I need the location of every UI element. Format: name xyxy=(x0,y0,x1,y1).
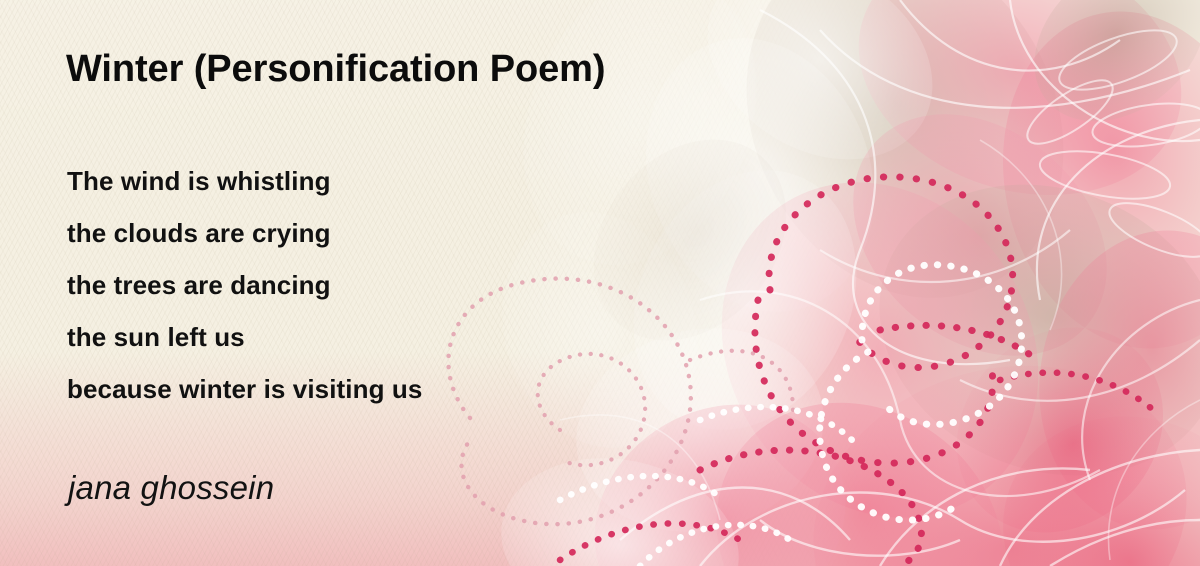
poem-line: because winter is visiting us xyxy=(67,363,422,415)
petal-outline-shapes xyxy=(1018,18,1200,268)
poem-body: The wind is whistling the clouds are cry… xyxy=(67,155,422,415)
petal-group-middle-right xyxy=(555,121,1200,566)
author-name: jana ghossein xyxy=(68,469,274,507)
poem-line: the sun left us xyxy=(67,311,422,363)
crimson-dotted-spiral xyxy=(560,177,1160,566)
petal-group-lower-right xyxy=(485,285,1200,566)
swirl-lines-lower xyxy=(620,450,1200,566)
poem-line: the clouds are crying xyxy=(67,207,422,259)
swirl-lines-upper xyxy=(760,0,1200,364)
white-dotted-spiral xyxy=(560,265,1022,566)
petal-group-upper-right xyxy=(609,0,1200,405)
swirl-lines-middle xyxy=(700,230,1200,496)
poem-line: The wind is whistling xyxy=(67,155,422,207)
swirl-lines-faint xyxy=(560,140,1200,560)
pale-dotted-spiral xyxy=(448,279,793,525)
poem-image-card: Winter (Personification Poem) The wind i… xyxy=(0,0,1200,566)
poem-line: the trees are dancing xyxy=(67,259,422,311)
page-title: Winter (Personification Poem) xyxy=(66,48,605,91)
